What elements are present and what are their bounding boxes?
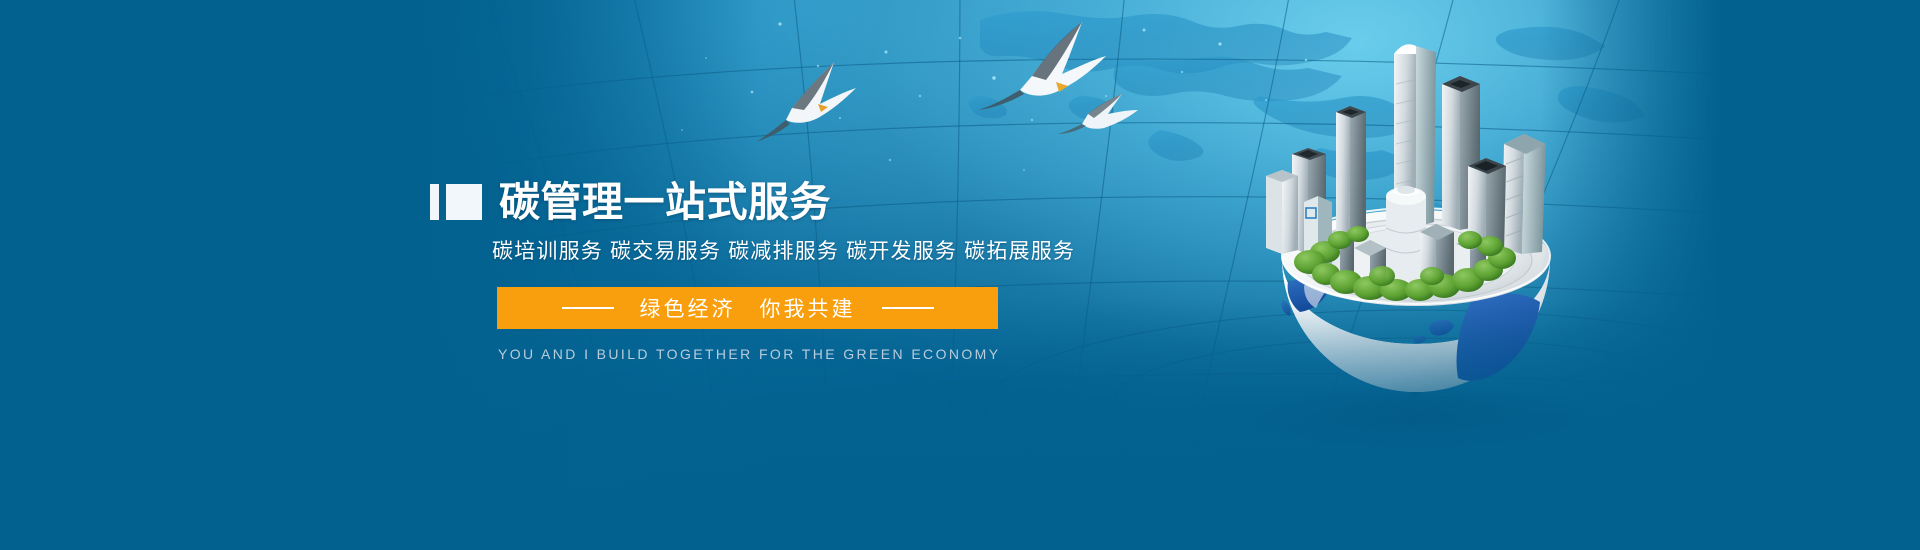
page-title: 碳管理一站式服务 bbox=[499, 180, 831, 224]
globe-shadow bbox=[1240, 384, 1592, 452]
headline-row: 碳管理一站式服务 bbox=[430, 178, 1070, 226]
cta-rule-left-icon bbox=[562, 307, 614, 309]
cta-label: 绿色经济 你我共建 bbox=[640, 293, 856, 323]
english-tagline: YOU AND I BUILD TOGETHER FOR THE GREEN E… bbox=[498, 346, 1070, 362]
logo-bar-icon bbox=[430, 184, 439, 220]
hero-banner: 碳管理一站式服务 碳培训服务 碳交易服务 碳减排服务 碳开发服务 碳拓展服务 绿… bbox=[0, 0, 1920, 550]
tower-left-slim bbox=[1336, 106, 1366, 242]
cta-banner-bar[interactable]: 绿色经济 你我共建 bbox=[497, 287, 998, 329]
tower-block-b bbox=[1266, 170, 1298, 254]
service-list: 碳培训服务 碳交易服务 碳减排服务 碳开发服务 碳拓展服务 bbox=[492, 235, 1070, 265]
brand-logo-mark bbox=[430, 184, 482, 220]
logo-square-icon bbox=[446, 184, 482, 220]
banner-copy-block: 碳管理一站式服务 碳培训服务 碳交易服务 碳减排服务 碳开发服务 碳拓展服务 绿… bbox=[430, 178, 1070, 362]
cta-rule-right-icon bbox=[882, 307, 934, 309]
tower-right-striped bbox=[1502, 134, 1546, 254]
